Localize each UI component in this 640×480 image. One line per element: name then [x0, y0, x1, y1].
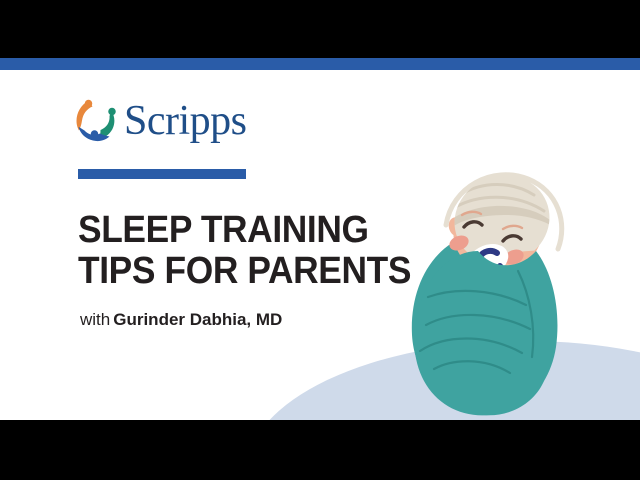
slide-title-line-1: SLEEP TRAINING — [78, 210, 404, 251]
blanket-front — [414, 251, 557, 415]
slide-title: SLEEP TRAINING TIPS FOR PARENTS — [78, 210, 404, 291]
title-slide: Scripps SLEEP TRAINING TIPS FOR PARENTS … — [0, 70, 640, 420]
swaddled-baby-illustration — [390, 165, 590, 420]
presenter-byline: withGurinder Dabhia, MD — [80, 310, 282, 330]
scripps-logo: Scripps — [70, 96, 247, 146]
letterbox-bottom-bar — [0, 420, 640, 480]
divider-rule — [78, 169, 246, 179]
slide-title-line-2: TIPS FOR PARENTS — [78, 251, 404, 292]
scripps-wordmark: Scripps — [124, 100, 247, 142]
video-player-frame: Scripps SLEEP TRAINING TIPS FOR PARENTS … — [0, 0, 640, 480]
letterbox-top-bar — [0, 0, 640, 58]
presenter-name: Gurinder Dabhia, MD — [113, 310, 282, 329]
scripps-triskelion-logo-icon — [70, 96, 120, 146]
blue-accent-strip — [0, 58, 640, 70]
byline-prefix: with — [80, 310, 110, 329]
